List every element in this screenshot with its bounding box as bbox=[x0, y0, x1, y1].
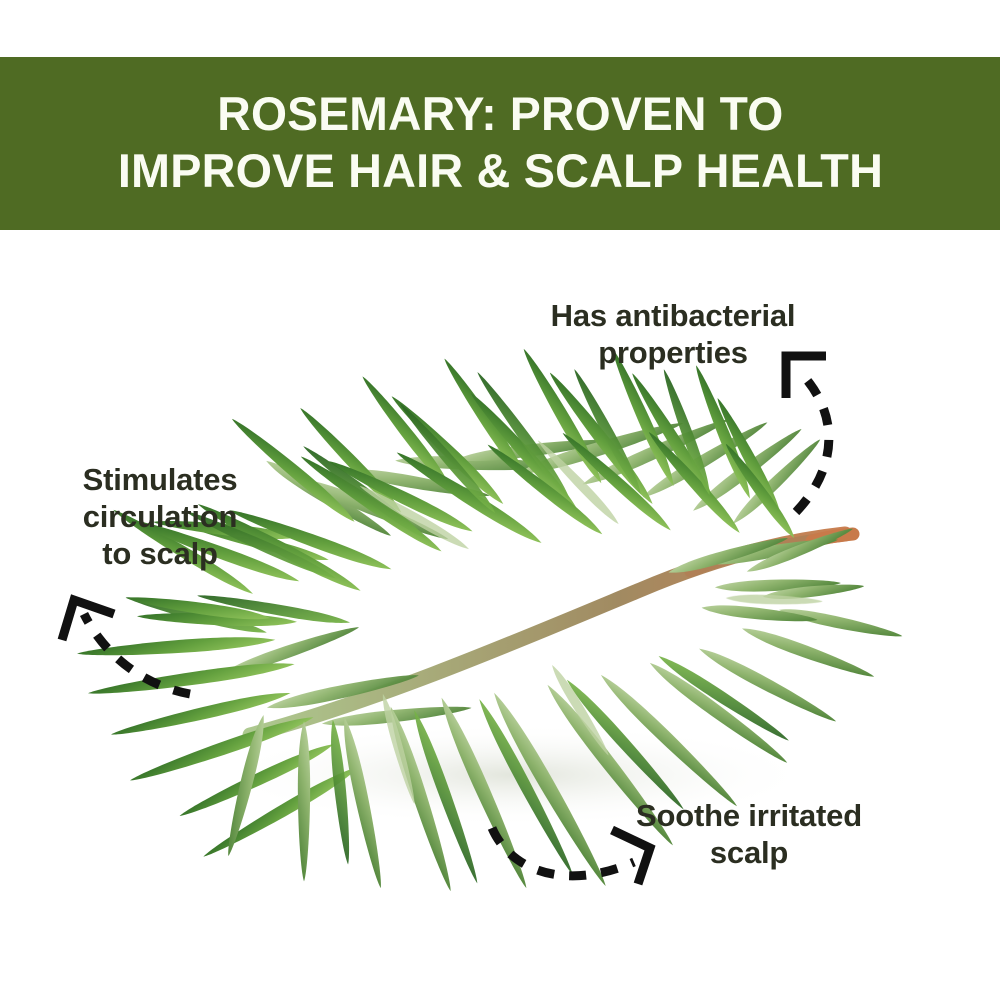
leaf-cluster-left bbox=[76, 592, 361, 862]
annotation-label-antibacterial: Has antibacterial properties bbox=[500, 297, 846, 371]
annotation-antibacterial-line-2: properties bbox=[500, 334, 846, 371]
annotation-circulation-line-2: circulation bbox=[35, 498, 285, 535]
annotation-circulation-line-1: Stimulates bbox=[35, 461, 285, 498]
annotation-circulation-line-3: to scalp bbox=[35, 535, 285, 572]
annotation-soothe-line-2: scalp bbox=[596, 834, 902, 871]
annotation-label-circulation: Stimulates circulation to scalp bbox=[35, 461, 285, 572]
annotation-soothe-line-1: Soothe irritated bbox=[596, 797, 902, 834]
annotation-label-soothe: Soothe irritated scalp bbox=[596, 797, 902, 871]
infographic-page: ROSEMARY: PROVEN TO IMPROVE HAIR & SCALP… bbox=[0, 0, 1000, 1000]
annotation-antibacterial-line-1: Has antibacterial bbox=[500, 297, 846, 334]
